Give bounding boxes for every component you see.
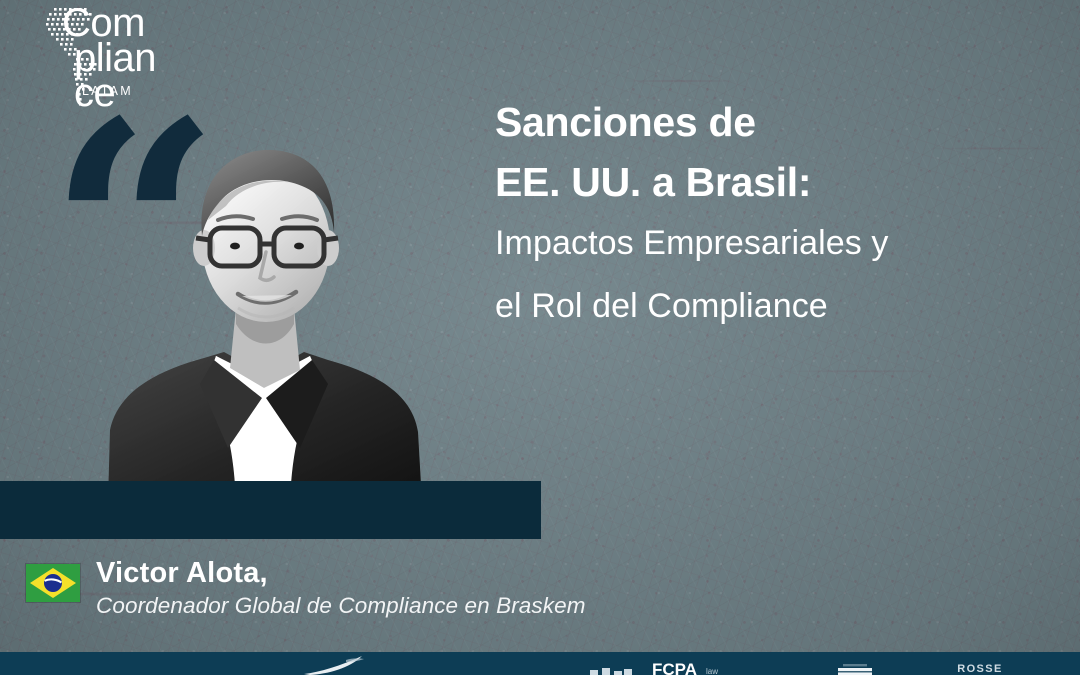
group-mark-logo[interactable]	[588, 652, 634, 675]
headline-line-2: EE. UU. a Brasil:	[495, 152, 1055, 212]
stacked-bars-logo[interactable]	[830, 652, 880, 675]
rosse-logo[interactable]: ROSSE	[945, 652, 1015, 675]
headline-block: Sanciones de EE. UU. a Brasil: Impactos …	[495, 92, 1055, 338]
name-plate-bar	[0, 481, 541, 539]
headline-line-3: Impactos Empresariales y	[495, 212, 1055, 275]
speaker-portrait	[96, 112, 426, 502]
swoosh-wing-logo[interactable]	[300, 652, 372, 675]
speaker-role: Coordenador Global de Compliance en Bras…	[96, 593, 586, 619]
fcpa-law-logo[interactable]: FCPA law	[652, 652, 730, 675]
speaker-block: Victor Alota, Coordenador Global de Comp…	[26, 561, 786, 621]
fcpa-logo-text: FCPA	[652, 660, 697, 675]
poster-canvas: Com plian ce LATAM “	[0, 0, 1080, 675]
brazil-flag-icon	[26, 564, 80, 602]
speaker-name: Victor Alota,	[96, 557, 268, 590]
headline-line-4: el Rol del Compliance	[495, 275, 1055, 338]
fcpa-logo-suffix: law	[706, 667, 718, 675]
sponsor-footer-bar: FCPA law ROSSE	[0, 652, 1080, 675]
headline-line-1: Sanciones de	[495, 92, 1055, 152]
